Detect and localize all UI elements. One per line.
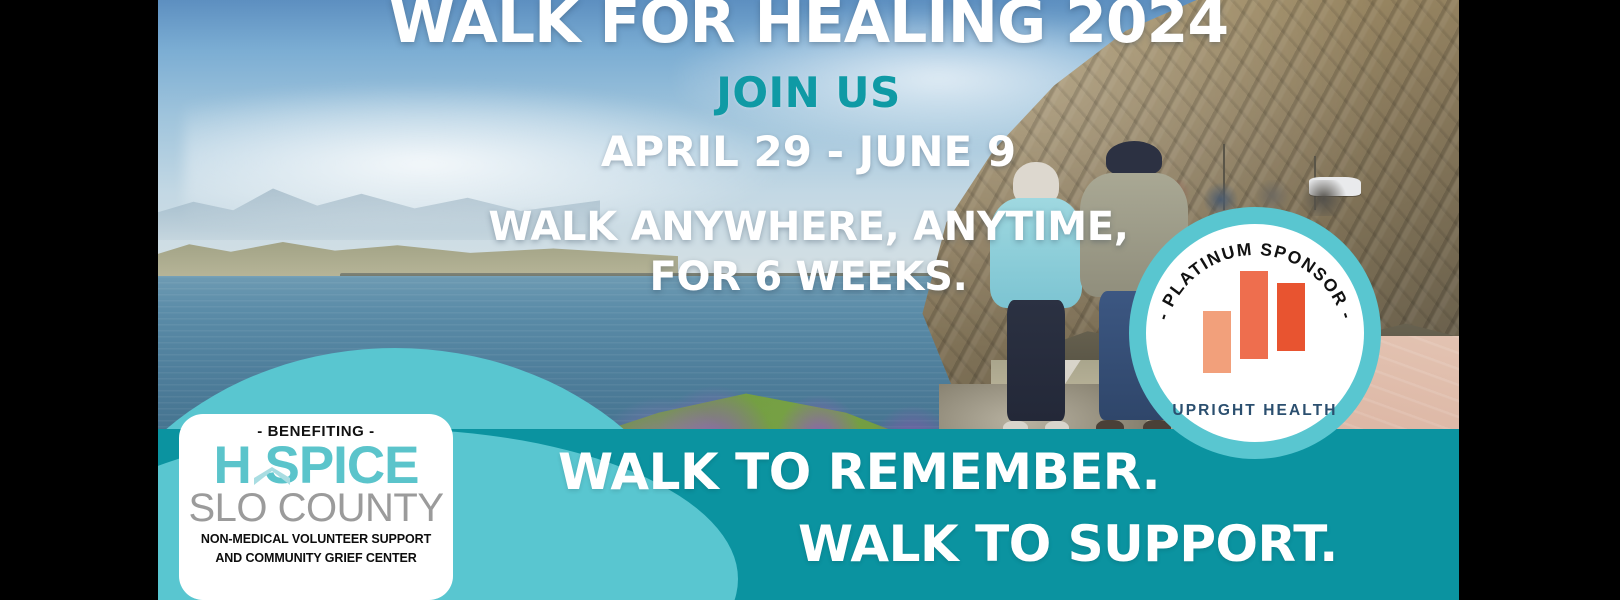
event-dates: APRIL 29 - JUNE 9 xyxy=(158,128,1459,176)
sponsor-company-name: UPRIGHT HEALTH xyxy=(1172,402,1337,420)
slogan-line-2: WALK TO SUPPORT. xyxy=(408,508,1349,580)
hospice-wordmark: H SPICE xyxy=(187,439,445,493)
hospice-wordmark-text: H SPICE xyxy=(213,436,418,495)
bar-light xyxy=(1203,311,1231,373)
bar-mid xyxy=(1240,271,1268,359)
upright-health-bars-icon xyxy=(1203,285,1307,373)
letterbox-right xyxy=(1459,0,1620,600)
promo-banner: WALK FOR HEALING 2024 JOIN US APRIL 29 -… xyxy=(0,0,1620,600)
banner-artwork: WALK FOR HEALING 2024 JOIN US APRIL 29 -… xyxy=(158,0,1459,600)
sponsor-badge-inner: - PLATINUM SPONSOR - UPRIGHT HEALTH xyxy=(1146,224,1364,442)
hospice-chevron-icon xyxy=(252,467,292,487)
beneficiary-tagline-line2: AND COMMUNITY GRIEF CENTER xyxy=(187,551,445,566)
beneficiary-tagline-line1: NON-MEDICAL VOLUNTEER SUPPORT xyxy=(187,532,445,547)
event-title: WALK FOR HEALING 2024 xyxy=(158,0,1459,52)
walker-legs xyxy=(1007,300,1065,421)
beneficiary-logo-card[interactable]: - BENEFITING - H SPICE SLO COUNTY NON-ME… xyxy=(179,414,453,600)
letterbox-left xyxy=(0,0,158,600)
bar-dark xyxy=(1277,283,1305,351)
join-us-text: JOIN US xyxy=(158,70,1459,116)
platinum-sponsor-badge[interactable]: - PLATINUM SPONSOR - UPRIGHT HEALTH xyxy=(1129,207,1381,459)
